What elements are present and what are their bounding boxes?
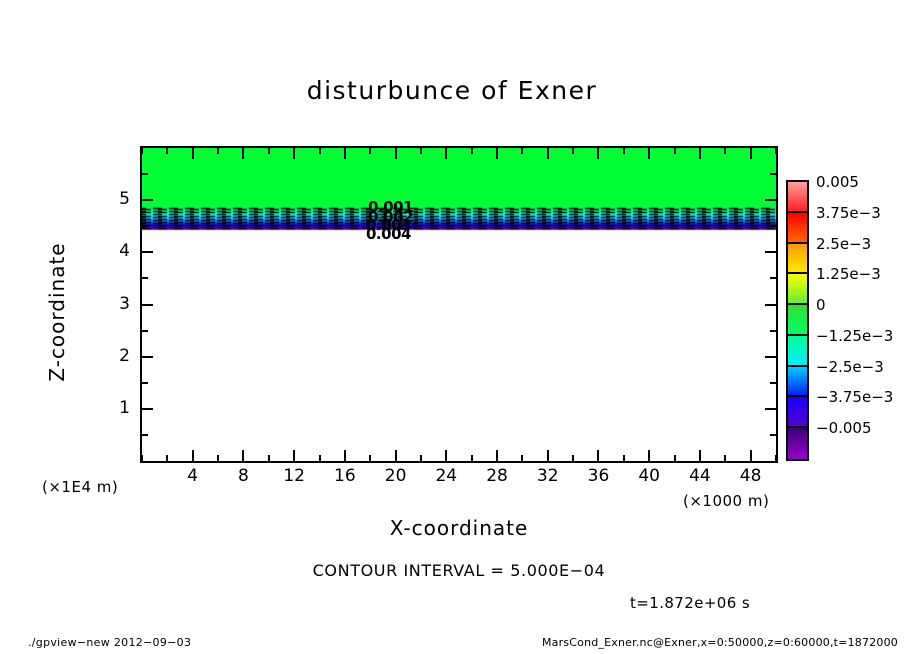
x-axis-minor-tick bbox=[623, 455, 625, 461]
colorbar-tick-label: −1.25e−3 bbox=[816, 327, 893, 345]
x-axis-tick bbox=[445, 450, 447, 461]
x-axis-minor-tick bbox=[268, 455, 270, 461]
y-axis-tick-label: 1 bbox=[90, 398, 130, 418]
x-axis-tick bbox=[750, 148, 752, 159]
colorbar-band bbox=[788, 428, 807, 459]
x-axis-tick bbox=[750, 450, 752, 461]
colorbar-band bbox=[788, 305, 807, 336]
plot-area: 0.0010.0020.0030.004 bbox=[140, 146, 778, 463]
y-axis-minor-tick bbox=[142, 330, 148, 332]
x-axis-tick bbox=[597, 148, 599, 159]
x-axis-minor-tick bbox=[775, 455, 777, 461]
y-axis-title: Z-coordinate bbox=[45, 212, 69, 412]
x-axis-minor-tick bbox=[471, 455, 473, 461]
colorbar-tick-label: 1.25e−3 bbox=[816, 265, 881, 283]
x-axis-minor-tick bbox=[420, 455, 422, 461]
x-axis-minor-tick bbox=[166, 148, 168, 154]
x-axis-minor-tick bbox=[319, 148, 321, 154]
x-axis-minor-tick bbox=[724, 148, 726, 154]
y-axis-tick-label: 5 bbox=[90, 189, 130, 209]
y-axis-minor-tick bbox=[142, 225, 148, 227]
colorbar bbox=[786, 180, 809, 461]
page-title: disturbunce of Exner bbox=[0, 76, 904, 105]
footer-source: MarsCond_Exner.nc@Exner,x=0:50000,z=0:60… bbox=[542, 636, 898, 649]
x-axis-minor-tick bbox=[217, 148, 219, 154]
colorbar-tick-label: 2.5e−3 bbox=[816, 235, 871, 253]
x-axis-tick bbox=[293, 450, 295, 461]
y-axis-tick bbox=[765, 199, 776, 201]
y-axis-minor-tick bbox=[770, 434, 776, 436]
y-axis-tick bbox=[765, 251, 776, 253]
x-axis-tick bbox=[395, 148, 397, 159]
y-axis-tick bbox=[142, 356, 153, 358]
x-axis-tick bbox=[597, 450, 599, 461]
y-axis-tick bbox=[142, 199, 153, 201]
colorbar-band bbox=[788, 244, 807, 275]
y-axis-tick bbox=[765, 356, 776, 358]
footer-generator: ./gpview−new 2012−09−03 bbox=[28, 636, 191, 649]
x-axis-tick bbox=[445, 148, 447, 159]
y-axis-tick-label: 2 bbox=[90, 346, 130, 366]
y-axis-minor-tick bbox=[770, 173, 776, 175]
x-axis-tick bbox=[293, 148, 295, 159]
y-axis-tick bbox=[142, 304, 153, 306]
y-axis-minor-tick bbox=[142, 277, 148, 279]
x-axis-minor-tick bbox=[572, 455, 574, 461]
y-axis-minor-tick bbox=[142, 382, 148, 384]
colorbar-tick-label: −0.005 bbox=[816, 419, 872, 437]
contour-field-canvas bbox=[142, 148, 776, 461]
x-axis-minor-tick bbox=[369, 148, 371, 154]
x-axis-minor-tick bbox=[674, 455, 676, 461]
colorbar-tick-label: 3.75e−3 bbox=[816, 204, 881, 222]
x-axis-minor-tick bbox=[217, 455, 219, 461]
x-axis-minor-tick bbox=[775, 148, 777, 154]
colorbar-band bbox=[788, 182, 807, 213]
y-axis-minor-tick bbox=[770, 277, 776, 279]
y-axis-minor-tick bbox=[770, 382, 776, 384]
x-axis-tick bbox=[395, 450, 397, 461]
x-axis-unit: (×1000 m) bbox=[683, 492, 769, 510]
y-axis-unit: (×1E4 m) bbox=[42, 478, 118, 496]
x-axis-tick bbox=[192, 148, 194, 159]
x-axis-minor-tick bbox=[369, 455, 371, 461]
colorbar-tick-label: −3.75e−3 bbox=[816, 388, 893, 406]
colorbar-band bbox=[788, 213, 807, 244]
y-axis-minor-tick bbox=[770, 225, 776, 227]
colorbar-tick-label: 0.005 bbox=[816, 173, 859, 191]
x-axis-minor-tick bbox=[521, 148, 523, 154]
x-axis-minor-tick bbox=[420, 148, 422, 154]
x-axis-minor-tick bbox=[572, 148, 574, 154]
y-axis-minor-tick bbox=[142, 434, 148, 436]
colorbar-tick-label: 0 bbox=[816, 296, 826, 314]
x-axis-tick bbox=[547, 450, 549, 461]
y-axis-tick bbox=[142, 408, 153, 410]
x-axis-minor-tick bbox=[674, 148, 676, 154]
x-axis-tick bbox=[648, 450, 650, 461]
contour-label: 0.004 bbox=[366, 225, 411, 243]
colorbar-tick-label: −2.5e−3 bbox=[816, 358, 884, 376]
colorbar-band bbox=[788, 367, 807, 398]
x-axis-tick bbox=[192, 450, 194, 461]
x-axis-minor-tick bbox=[166, 455, 168, 461]
y-axis-tick bbox=[765, 408, 776, 410]
x-axis-minor-tick bbox=[724, 455, 726, 461]
x-axis-minor-tick bbox=[623, 148, 625, 154]
y-axis-tick bbox=[142, 251, 153, 253]
x-axis-tick bbox=[699, 148, 701, 159]
x-axis-tick bbox=[242, 450, 244, 461]
x-axis-minor-tick bbox=[521, 455, 523, 461]
x-axis-minor-tick bbox=[319, 455, 321, 461]
x-axis-minor-tick bbox=[141, 455, 143, 461]
x-axis-tick bbox=[242, 148, 244, 159]
x-axis-minor-tick bbox=[268, 148, 270, 154]
y-axis-minor-tick bbox=[770, 330, 776, 332]
x-axis-minor-tick bbox=[471, 148, 473, 154]
x-axis-tick bbox=[699, 450, 701, 461]
colorbar-band bbox=[788, 336, 807, 367]
x-axis-tick-label: 48 bbox=[721, 466, 781, 486]
x-axis-tick bbox=[344, 148, 346, 159]
y-axis-tick-label: 4 bbox=[90, 241, 130, 261]
time-stamp: t=1.872e+06 s bbox=[630, 594, 750, 612]
x-axis-tick bbox=[344, 450, 346, 461]
x-axis-tick bbox=[496, 148, 498, 159]
x-axis-tick bbox=[547, 148, 549, 159]
x-axis-tick bbox=[648, 148, 650, 159]
x-axis-tick bbox=[496, 450, 498, 461]
contour-interval-note: CONTOUR INTERVAL = 5.000E−04 bbox=[140, 561, 778, 580]
y-axis-minor-tick bbox=[142, 173, 148, 175]
y-axis-tick bbox=[765, 304, 776, 306]
colorbar-band bbox=[788, 274, 807, 305]
x-axis-title: X-coordinate bbox=[140, 516, 778, 540]
y-axis-tick-label: 3 bbox=[90, 294, 130, 314]
colorbar-band bbox=[788, 397, 807, 428]
x-axis-minor-tick bbox=[141, 148, 143, 154]
